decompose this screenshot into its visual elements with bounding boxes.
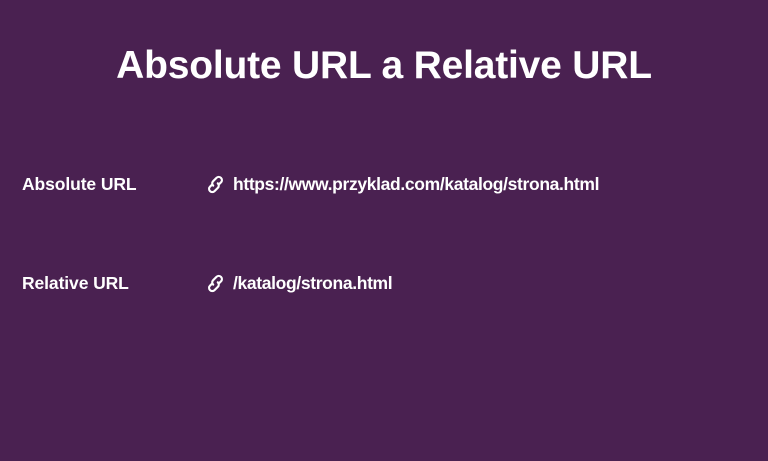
link-icon	[204, 173, 227, 196]
table-row: Relative URL /katalog/strona.html	[0, 268, 768, 298]
link-icon	[204, 272, 227, 295]
page-title: Absolute URL a Relative URL	[0, 42, 768, 90]
slide-canvas: Absolute URL a Relative URL Absolute URL…	[0, 0, 768, 461]
row-value-absolute-url: https://www.przyklad.com/katalog/strona.…	[233, 169, 599, 199]
row-label-absolute-url: Absolute URL	[22, 169, 137, 199]
row-label-relative-url: Relative URL	[22, 268, 129, 298]
table-row: Absolute URL https://www.przyklad.com/ka…	[0, 169, 768, 199]
row-value-relative-url: /katalog/strona.html	[233, 268, 392, 298]
